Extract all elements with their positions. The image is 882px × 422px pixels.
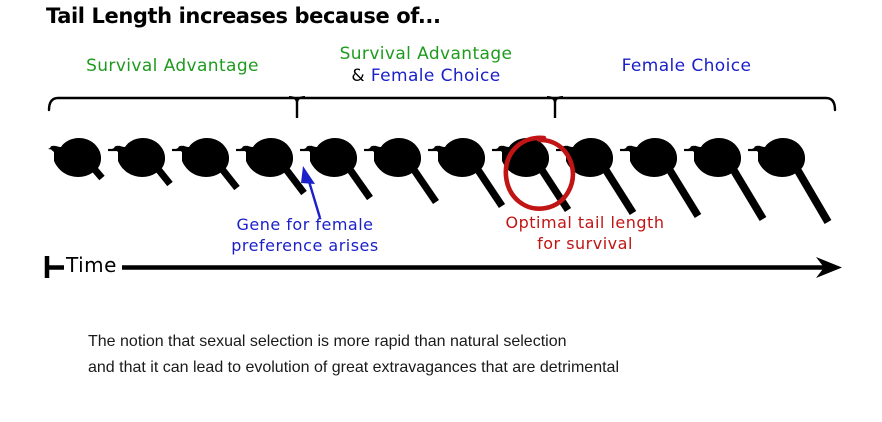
- phase-2-text-survival: Survival Advantage: [340, 44, 513, 64]
- time-axis: [44, 250, 854, 284]
- gene-note-line-1: Gene for female: [190, 214, 420, 235]
- phase-label-survival-advantage: Survival Advantage: [48, 55, 297, 77]
- annotation-optimal-tail-length: Optimal tail length for survival: [470, 212, 700, 254]
- bird-12: [752, 138, 828, 222]
- bird-2: [112, 138, 190, 184]
- phase-2-ampersand: &: [351, 66, 365, 86]
- figure-caption: The notion that sexual selection is more…: [88, 329, 788, 381]
- caption-line-2: and that it can lead to evolution of gre…: [88, 355, 788, 381]
- phase-2-line-2: & Female Choice: [297, 65, 555, 87]
- gene-arises-pointer-arrow: [290, 160, 340, 220]
- bird-11: [688, 138, 766, 219]
- optimal-tail-highlight-circle: [500, 132, 580, 216]
- phase-2-text-female-choice: Female Choice: [371, 66, 501, 86]
- phase-1-text: Survival Advantage: [86, 56, 259, 76]
- phase-label-survival-advantage-and-female-choice: Survival Advantage & Female Choice: [297, 43, 555, 87]
- phase-2-line-1: Survival Advantage: [297, 43, 555, 65]
- phase-label-female-choice: Female Choice: [555, 55, 818, 77]
- phase-bracket: [40, 86, 840, 118]
- bird-3: [176, 138, 254, 188]
- phase-3-text: Female Choice: [622, 56, 752, 76]
- bird-1: [48, 138, 126, 178]
- bird-10: [624, 138, 702, 216]
- bird-sequence: [40, 118, 860, 228]
- caption-line-1: The notion that sexual selection is more…: [88, 329, 788, 355]
- optimal-note-line-1: Optimal tail length: [470, 212, 700, 233]
- evolution-tail-length-figure: Tail Length increases because of... Surv…: [0, 0, 882, 422]
- time-axis-label: Time: [66, 253, 117, 277]
- page-title: Tail Length increases because of...: [46, 4, 441, 28]
